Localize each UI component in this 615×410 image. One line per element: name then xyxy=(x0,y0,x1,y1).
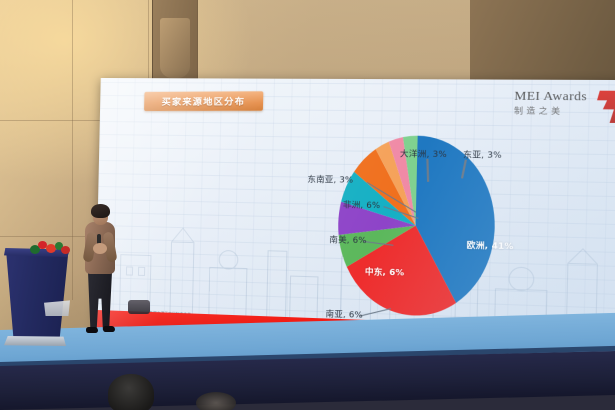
slide-title-banner: 买家来源地区分布 xyxy=(144,91,263,111)
door-panel xyxy=(160,18,190,78)
speaker-hands xyxy=(93,243,107,254)
pie-slice-label: 欧洲, 41% xyxy=(466,239,513,252)
speaker-shoe-left xyxy=(86,327,98,333)
speaker-shoe-right xyxy=(103,326,115,332)
audience-blur-foreground xyxy=(196,392,236,410)
stage-bag xyxy=(128,300,150,314)
screenshot-scene: 买家来源地区分布 MEI Awards 制造之美 东南亚, 3%非洲, 6%南美… xyxy=(0,0,615,410)
pie-chart: 东南亚, 3%非洲, 6%南美, 6%中东, 6%南亚, 6%大洋洲, 3%东亚… xyxy=(298,122,531,331)
pie-slice-label: 中东, 6% xyxy=(365,266,405,279)
logo-chinese-text: 制造之美 xyxy=(514,105,615,118)
pie-slice-label: 南美, 6% xyxy=(329,234,367,246)
pie-slice-label: 大洋洲, 3% xyxy=(400,148,447,160)
podium-flowers xyxy=(28,240,74,258)
pie-slice-label: 东南亚, 3% xyxy=(307,174,353,186)
mei-awards-logo: MEI Awards 制造之美 xyxy=(514,88,615,129)
pie-slice-label: 非洲, 6% xyxy=(343,199,381,211)
projection-screen: 买家来源地区分布 MEI Awards 制造之美 东南亚, 3%非洲, 6%南美… xyxy=(95,78,615,352)
podium xyxy=(6,250,68,342)
slide-title-text: 买家来源地区分布 xyxy=(161,94,245,107)
speaker-hair xyxy=(91,204,110,218)
podium-base xyxy=(4,336,66,346)
pie-slice-label: 东亚, 3% xyxy=(463,149,502,161)
audience-head-foreground xyxy=(108,374,154,410)
